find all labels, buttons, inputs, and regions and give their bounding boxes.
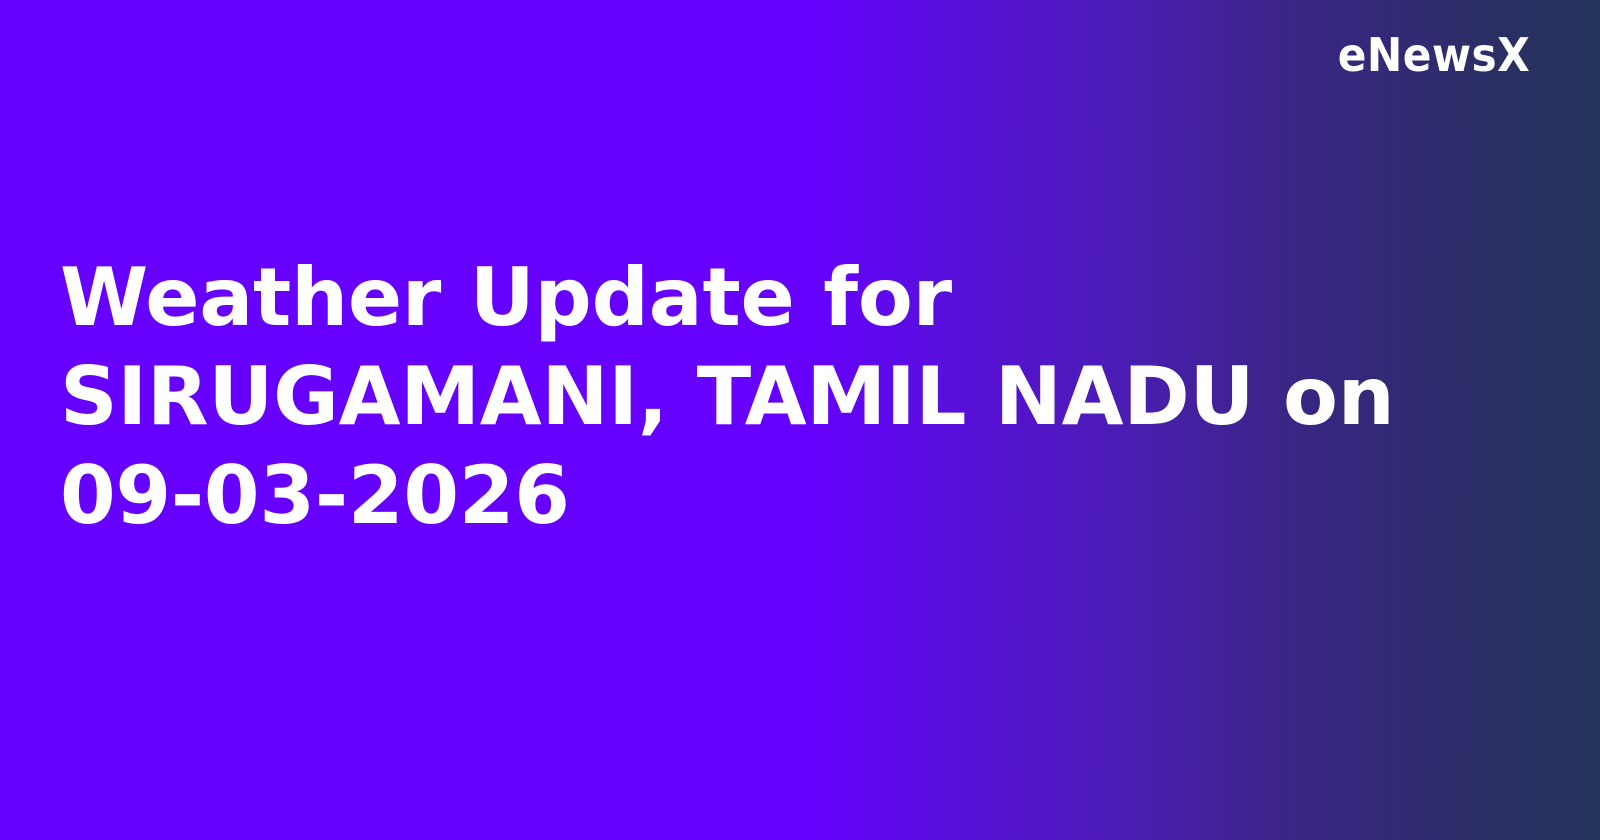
weather-update-banner: eNewsX Weather Update for SIRUGAMANI, TA… [0, 0, 1600, 840]
brand-logo: eNewsX [1337, 32, 1530, 78]
page-title: Weather Update for SIRUGAMANI, TAMIL NAD… [60, 248, 1490, 545]
headline-block: Weather Update for SIRUGAMANI, TAMIL NAD… [60, 248, 1490, 545]
